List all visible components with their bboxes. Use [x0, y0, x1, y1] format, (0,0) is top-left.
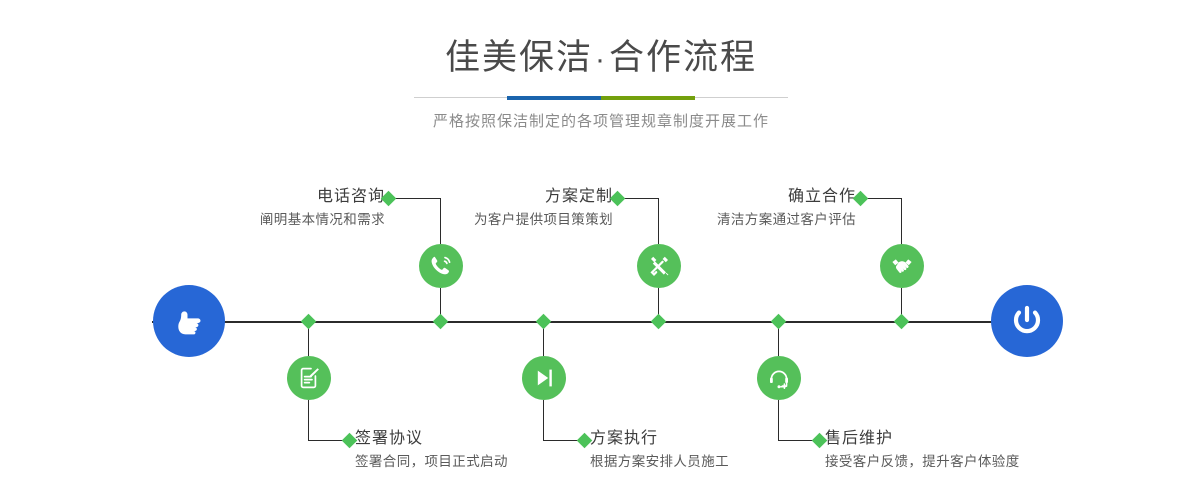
timeline-start-node — [153, 285, 225, 357]
process-flow-infographic: 佳美保洁·合作流程 严格按照保洁制定的各项管理规章制度开展工作 — [0, 0, 1202, 502]
step-icon-plan-execution[interactable] — [522, 356, 566, 400]
timeline-marker-step2 — [301, 314, 317, 330]
step-label-plan-execution: 方案执行 根据方案安排人员施工 — [590, 428, 729, 472]
play-execute-icon — [531, 365, 557, 391]
connector-vline-step2-bottom — [308, 400, 309, 441]
connector-vline-step4-bottom — [543, 400, 544, 441]
timeline-marker-step5 — [771, 314, 787, 330]
timeline-end-node — [991, 285, 1063, 357]
step-label-phone-consultation: 电话咨询 阐明基本情况和需求 — [240, 186, 385, 230]
document-pen-icon — [296, 365, 322, 391]
step-desc: 接受客户反馈，提升客户体验度 — [825, 452, 1020, 472]
connector-vline-step5-bottom — [778, 400, 779, 441]
header: 佳美保洁·合作流程 严格按照保洁制定的各项管理规章制度开展工作 — [0, 0, 1202, 133]
connector-hline-step3 — [620, 198, 659, 199]
step-label-after-sales: 售后维护 接受客户反馈，提升客户体验度 — [825, 428, 1020, 472]
divider-segment-green — [601, 96, 695, 100]
step-title: 方案定制 — [450, 186, 613, 208]
step-label-establish-cooperation: 确立合作 清洁方案通过客户评估 — [700, 186, 856, 230]
timeline-marker-step4 — [536, 314, 552, 330]
page-title: 佳美保洁·合作流程 — [0, 36, 1202, 82]
step-desc: 清洁方案通过客户评估 — [700, 210, 856, 230]
pointing-hand-icon — [169, 301, 209, 341]
handshake-icon — [889, 253, 915, 279]
step-label-sign-agreement: 签署协议 签署合同，项目正式启动 — [355, 428, 508, 472]
timeline-axis — [152, 321, 1056, 323]
connector-vline-step3-top — [658, 198, 659, 244]
page-title-sub: 合作流程 — [609, 38, 757, 77]
step-icon-phone-consultation[interactable] — [419, 244, 463, 288]
phone-call-icon — [428, 253, 454, 279]
page-title-separator: · — [593, 43, 609, 76]
timeline-marker-step6 — [894, 314, 910, 330]
step-desc: 为客户提供项目策策划 — [450, 210, 613, 230]
step-title: 售后维护 — [825, 428, 1020, 450]
step-label-plan-customization: 方案定制 为客户提供项目策策划 — [450, 186, 613, 230]
timeline-marker-step3 — [651, 314, 667, 330]
step-title: 签署协议 — [355, 428, 508, 450]
step-title: 确立合作 — [700, 186, 856, 208]
power-icon — [1006, 300, 1048, 342]
divider-segment-blue — [507, 96, 601, 100]
title-divider — [414, 96, 788, 100]
step-icon-plan-customization[interactable] — [637, 244, 681, 288]
connector-hline-step1 — [392, 198, 441, 199]
step-icon-after-sales[interactable] — [757, 356, 801, 400]
step-icon-sign-agreement[interactable] — [287, 356, 331, 400]
step-desc: 签署合同，项目正式启动 — [355, 452, 508, 472]
connector-vline-step6-top — [901, 198, 902, 244]
page-title-main: 佳美保洁 — [445, 38, 593, 77]
page-subtitle: 严格按照保洁制定的各项管理规章制度开展工作 — [0, 111, 1202, 133]
step-desc: 根据方案安排人员施工 — [590, 452, 729, 472]
connector-vline-step1-top — [440, 198, 441, 244]
step-desc: 阐明基本情况和需求 — [240, 210, 385, 230]
step-title: 方案执行 — [590, 428, 729, 450]
pencil-ruler-icon — [646, 253, 672, 279]
step-icon-establish-cooperation[interactable] — [880, 244, 924, 288]
timeline-marker-step1 — [433, 314, 449, 330]
step-title: 电话咨询 — [240, 186, 385, 208]
headset-support-icon — [766, 365, 792, 391]
